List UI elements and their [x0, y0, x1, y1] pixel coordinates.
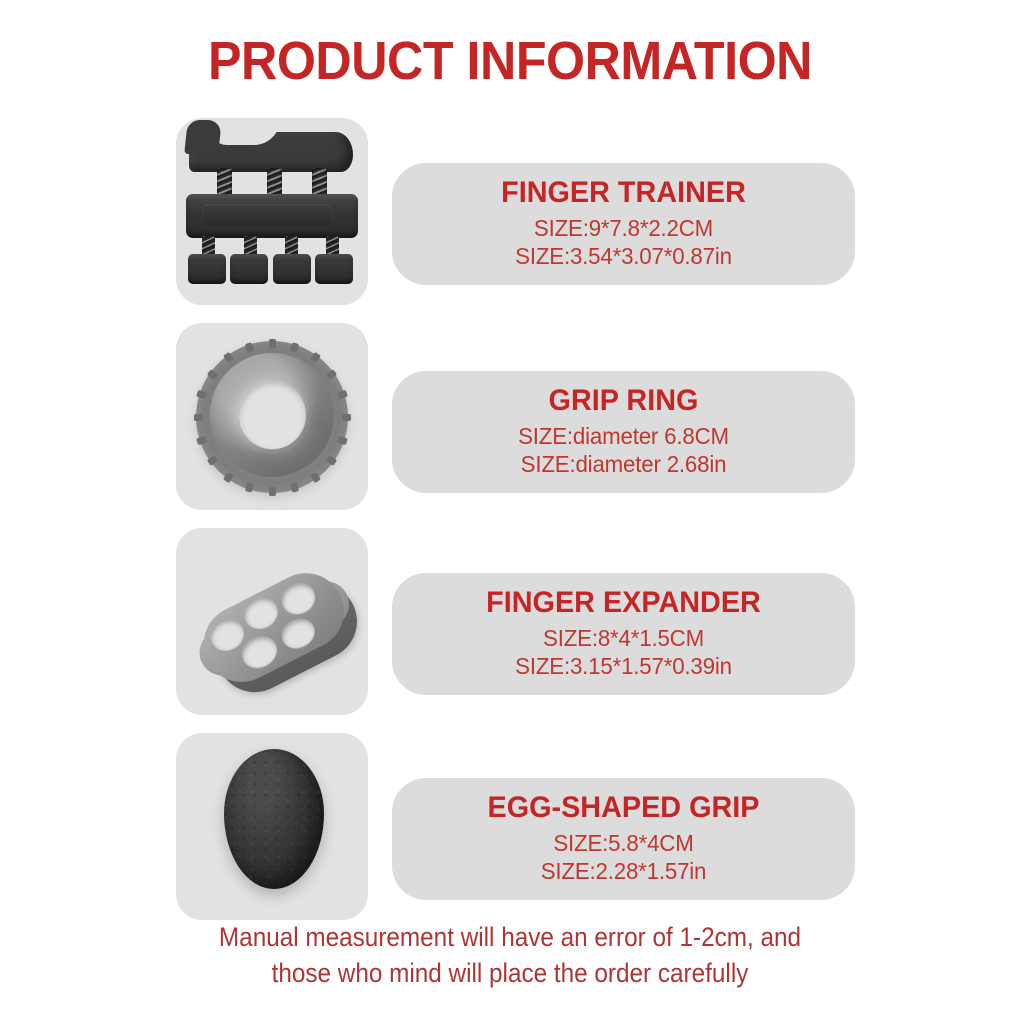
product-row-egg-shaped-grip: EGG-SHAPED GRIP SIZE:5.8*4CM SIZE:2.28*1…	[0, 733, 1020, 931]
finger-expander-image-tile	[176, 528, 368, 715]
egg-texture	[224, 749, 324, 889]
product-name: FINGER TRAINER	[419, 176, 829, 210]
product-size-in: SIZE:diameter 2.68in	[416, 450, 830, 478]
trainer-finger-pad	[273, 254, 311, 284]
product-size-in: SIZE:2.28*1.57in	[416, 857, 830, 885]
trainer-finger-pad	[315, 254, 353, 284]
product-row-grip-ring: GRIP RING SIZE:diameter 6.8CM SIZE:diame…	[0, 323, 1020, 528]
product-card-finger-expander: FINGER EXPANDER SIZE:8*4*1.5CM SIZE:3.15…	[392, 573, 855, 695]
grip-ring-photo	[176, 323, 368, 510]
product-information-page: PRODUCT INFORMATION	[0, 0, 1020, 1020]
trainer-finger-pad	[230, 254, 268, 284]
product-card-grip-ring: GRIP RING SIZE:diameter 6.8CM SIZE:diame…	[392, 371, 855, 493]
product-card-egg-shaped-grip: EGG-SHAPED GRIP SIZE:5.8*4CM SIZE:2.28*1…	[392, 778, 855, 900]
product-row-finger-expander: FINGER EXPANDER SIZE:8*4*1.5CM SIZE:3.15…	[0, 528, 1020, 733]
finger-trainer-image-tile	[176, 118, 368, 305]
ring-nub	[342, 414, 351, 421]
ring-nub	[194, 414, 203, 421]
product-size-in: SIZE:3.54*3.07*0.87in	[416, 242, 830, 270]
ring-hole	[240, 381, 306, 449]
product-size-cm: SIZE:8*4*1.5CM	[416, 624, 830, 652]
product-size-in: SIZE:3.15*1.57*0.39in	[416, 652, 830, 680]
product-card-finger-trainer: FINGER TRAINER SIZE:9*7.8*2.2CM SIZE:3.5…	[392, 163, 855, 285]
product-size-cm: SIZE:5.8*4CM	[416, 829, 830, 857]
finger-expander-photo	[176, 528, 368, 715]
ring-nub	[269, 487, 276, 496]
trainer-hook	[184, 120, 222, 154]
ring-nub	[269, 339, 276, 348]
product-name: EGG-SHAPED GRIP	[419, 791, 829, 825]
egg-shaped-grip-image-tile	[176, 733, 368, 920]
disclaimer-line-1: Manual measurement will have an error of…	[51, 920, 969, 956]
finger-trainer-photo	[176, 118, 368, 305]
product-row-finger-trainer: FINGER TRAINER SIZE:9*7.8*2.2CM SIZE:3.5…	[0, 118, 1020, 323]
product-list: FINGER TRAINER SIZE:9*7.8*2.2CM SIZE:3.5…	[0, 118, 1020, 931]
trainer-main-body	[186, 194, 358, 238]
ring-nub	[244, 483, 253, 494]
egg-shaped-grip-photo	[176, 733, 368, 920]
trainer-finger-pad	[188, 254, 226, 284]
product-size-cm: SIZE:diameter 6.8CM	[416, 422, 830, 450]
product-name: GRIP RING	[419, 384, 829, 418]
page-title: PRODUCT INFORMATION	[36, 30, 985, 92]
ring-nub	[337, 390, 348, 399]
grip-ring-image-tile	[176, 323, 368, 510]
product-size-cm: SIZE:9*7.8*2.2CM	[416, 214, 830, 242]
egg-body	[224, 749, 324, 889]
measurement-disclaimer: Manual measurement will have an error of…	[51, 920, 969, 991]
product-name: FINGER EXPANDER	[419, 586, 829, 620]
disclaimer-line-2: those who mind will place the order care…	[51, 956, 969, 992]
